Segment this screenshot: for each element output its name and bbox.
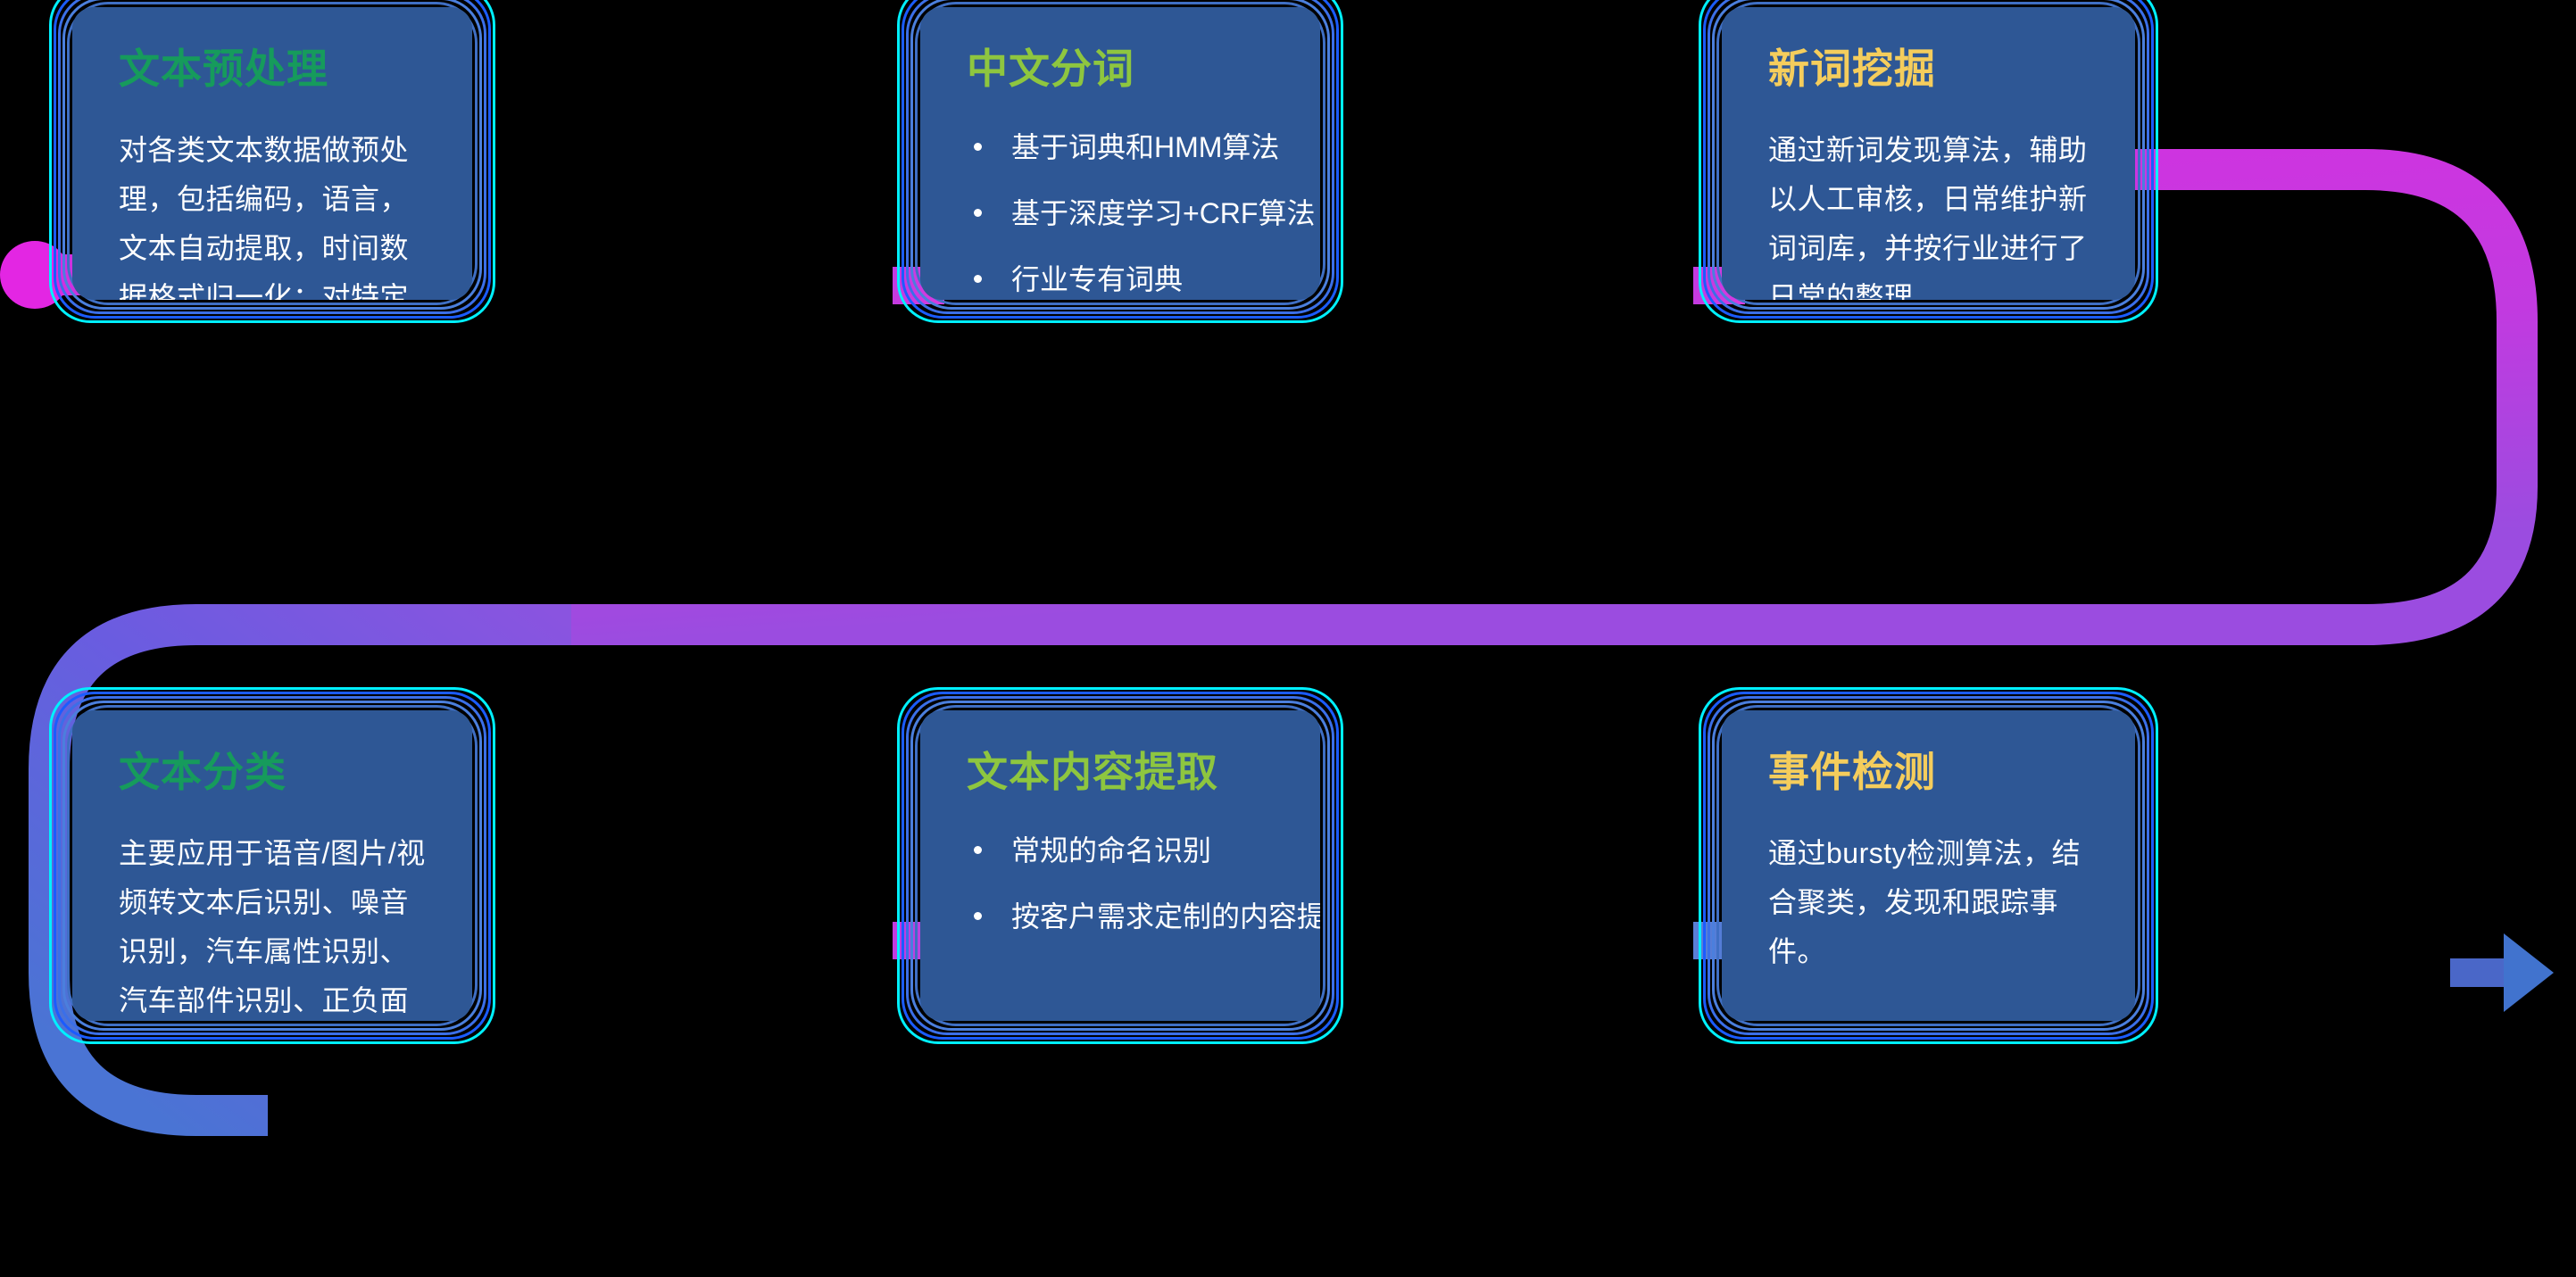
- card-body: 通过bursty检测算法，结合聚类，发现和跟踪事件。: [1768, 829, 2089, 976]
- card-text-content-extraction[interactable]: 文本内容提取 常规的命名识别 按客户需求定制的内容提取模型: [897, 687, 1343, 1044]
- bullet-dot-icon: [974, 846, 982, 854]
- bullet-dot-icon: [974, 209, 982, 217]
- card-surface: 中文分词 基于词典和HMM算法 基于深度学习+CRF算法 行业专有词典: [920, 7, 1320, 300]
- card-surface: 文本预处理 对各类文本数据做预处理，包括编码，语言，文本自动提取，时间数据格式归…: [72, 7, 472, 300]
- list-item: 按客户需求定制的内容提取模型: [967, 895, 1274, 938]
- connector-right-wrap: [196, 170, 2517, 625]
- bullet-dot-icon: [974, 275, 982, 283]
- card-bullet-list: 基于词典和HMM算法 基于深度学习+CRF算法 行业专有词典: [967, 126, 1274, 300]
- flow-end-arrow-shaft: [2450, 958, 2504, 987]
- card-title: 中文分词: [967, 46, 1274, 92]
- card-event-detection[interactable]: 事件检测 通过bursty检测算法，结合聚类，发现和跟踪事件。: [1699, 687, 2158, 1044]
- card-text-classification[interactable]: 文本分类 主要应用于语音/图片/视频转文本后识别、噪音识别，汽车属性识别、汽车部…: [49, 687, 495, 1044]
- card-title: 文本内容提取: [967, 750, 1274, 795]
- card-title: 文本分类: [119, 750, 426, 795]
- list-item-label: 常规的命名识别: [1011, 834, 1211, 867]
- card-surface: 新词挖掘 通过新词发现算法，辅助以人工审核，日常维护新词词库，并按行业进行了日常…: [1722, 7, 2135, 300]
- card-surface: 文本内容提取 常规的命名识别 按客户需求定制的内容提取模型: [920, 710, 1320, 1021]
- card-paragraph: 通过新词发现算法，辅助以人工审核，日常维护新词词库，并按行业进行了日常的整理。: [1768, 126, 2089, 300]
- card-chinese-word-segmentation[interactable]: 中文分词 基于词典和HMM算法 基于深度学习+CRF算法 行业专有词典: [897, 0, 1343, 323]
- diagram-canvas: 文本预处理 对各类文本数据做预处理，包括编码，语言，文本自动提取，时间数据格式归…: [0, 0, 2576, 1277]
- flow-end-arrow-head: [2504, 933, 2554, 1012]
- list-item-label: 基于词典和HMM算法: [1011, 131, 1279, 163]
- card-bullet-list: 常规的命名识别 按客户需求定制的内容提取模型: [967, 829, 1274, 938]
- list-item: 基于深度学习+CRF算法: [967, 192, 1274, 235]
- card-paragraph: 对各类文本数据做预处理，包括编码，语言，文本自动提取，时间数据格式归一化；对特定…: [119, 126, 426, 300]
- list-item: 基于词典和HMM算法: [967, 126, 1274, 169]
- list-item-label: 行业专有词典: [1011, 263, 1183, 295]
- card-new-word-mining[interactable]: 新词挖掘 通过新词发现算法，辅助以人工审核，日常维护新词词库，并按行业进行了日常…: [1699, 0, 2158, 323]
- list-item: 行业专有词典: [967, 258, 1274, 300]
- card-body: 通过新词发现算法，辅助以人工审核，日常维护新词词库，并按行业进行了日常的整理。: [1768, 126, 2089, 300]
- card-paragraph: 主要应用于语音/图片/视频转文本后识别、噪音识别，汽车属性识别、汽车部件识别、正…: [119, 829, 426, 1021]
- card-text-preprocessing[interactable]: 文本预处理 对各类文本数据做预处理，包括编码，语言，文本自动提取，时间数据格式归…: [49, 0, 495, 323]
- bullet-dot-icon: [974, 143, 982, 151]
- list-item-label: 按客户需求定制的内容提取模型: [1011, 900, 1320, 933]
- card-body: 对各类文本数据做预处理，包括编码，语言，文本自动提取，时间数据格式归一化；对特定…: [119, 126, 426, 300]
- card-title: 事件检测: [1768, 750, 2089, 795]
- card-title: 新词挖掘: [1768, 46, 2089, 92]
- card-title: 文本预处理: [119, 46, 426, 92]
- card-surface: 文本分类 主要应用于语音/图片/视频转文本后识别、噪音识别，汽车属性识别、汽车部…: [72, 710, 472, 1021]
- bullet-dot-icon: [974, 912, 982, 920]
- card-surface: 事件检测 通过bursty检测算法，结合聚类，发现和跟踪事件。: [1722, 710, 2135, 1021]
- card-body: 主要应用于语音/图片/视频转文本后识别、噪音识别，汽车属性识别、汽车部件识别、正…: [119, 829, 426, 1021]
- card-paragraph: 通过bursty检测算法，结合聚类，发现和跟踪事件。: [1768, 829, 2089, 976]
- list-item-label: 基于深度学习+CRF算法: [1011, 197, 1315, 229]
- list-item: 常规的命名识别: [967, 829, 1274, 872]
